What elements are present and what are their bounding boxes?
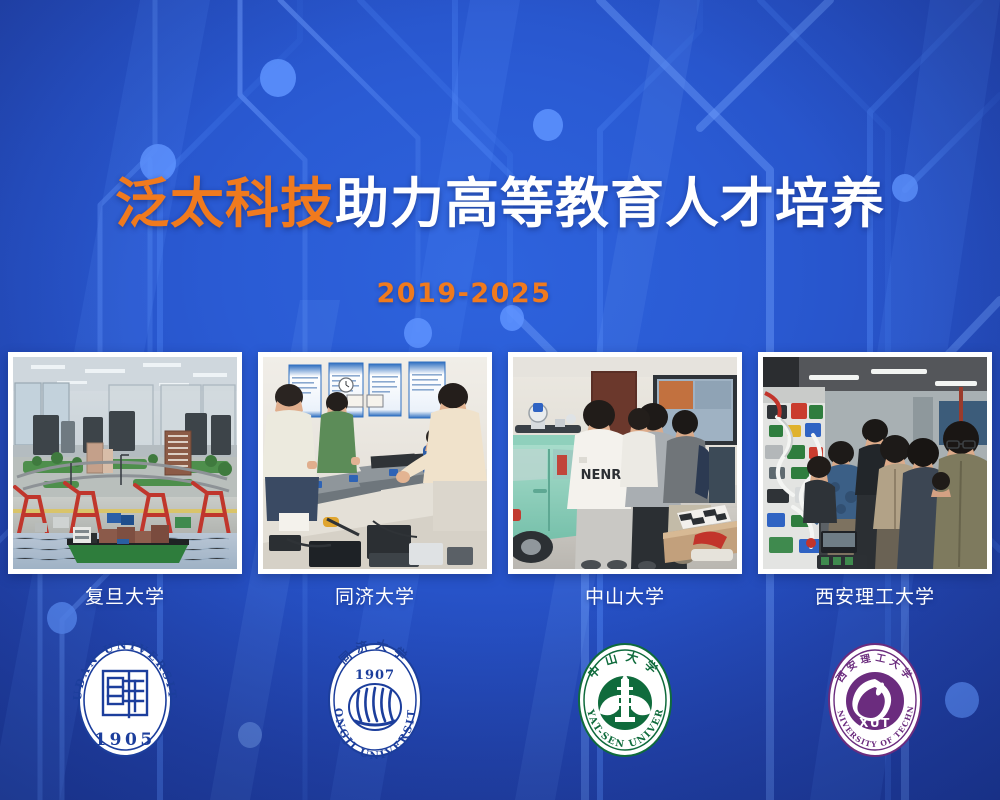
sun-yat-sen-university-logo: 中山大学 SUN YAT-SEN UNIVERSITY (567, 635, 683, 765)
svg-text:1907: 1907 (355, 668, 395, 683)
photo-card-sysu: NENR (508, 352, 742, 574)
year-range-label: 2019-2025 (0, 278, 1000, 309)
university-label-sysu: 中山大学 (508, 582, 742, 609)
university-logo-row: FUDAN UNIVERSITY 1905 (8, 630, 992, 770)
university-label-fudan: 复旦大学 (8, 582, 242, 609)
photo-sysu-autonomous-vehicle: NENR (513, 357, 737, 569)
svg-text:1949: 1949 (864, 730, 886, 738)
photo-card-fudan (8, 352, 242, 574)
logo-slot-fudan: FUDAN UNIVERSITY 1905 (8, 630, 242, 770)
photo-frame (258, 352, 492, 574)
photo-card-row: NENR (8, 352, 992, 574)
tongji-university-logo: 同济大学 TONGJI UNIVERSITY 1907 (317, 635, 433, 765)
university-label-xut: 西安理工大学 (758, 582, 992, 609)
logo-slot-xut: 西安理工大学 XI'AN UNIVERSITY OF TECHNOLOGY XU… (758, 630, 992, 770)
logo-slot-sysu: 中山大学 SUN YAT-SEN UNIVERSITY (508, 630, 742, 770)
photo-card-xut (758, 352, 992, 574)
fudan-university-logo: FUDAN UNIVERSITY 1905 (67, 635, 183, 765)
photo-card-tongji (258, 352, 492, 574)
svg-text:NENR: NENR (581, 468, 622, 483)
xian-university-of-technology-logo: 西安理工大学 XI'AN UNIVERSITY OF TECHNOLOGY XU… (817, 635, 933, 765)
photo-frame (8, 352, 242, 574)
title-accent-text: 泛太科技 (115, 172, 335, 235)
university-label-tongji: 同济大学 (258, 582, 492, 609)
svg-text:1905: 1905 (94, 730, 155, 750)
poster-canvas: 泛太科技助力高等教育人才培养 2019-2025 (0, 0, 1000, 800)
photo-tongji-lab (263, 357, 487, 569)
photo-xut-workshop (763, 357, 987, 569)
svg-text:XUT: XUT (859, 716, 891, 730)
photo-fudan-lab (13, 357, 237, 569)
page-title: 泛太科技助力高等教育人才培养 (0, 175, 1000, 232)
photo-frame (758, 352, 992, 574)
title-block: 泛太科技助力高等教育人才培养 (0, 175, 1000, 232)
logo-slot-tongji: 同济大学 TONGJI UNIVERSITY 1907 (258, 630, 492, 770)
photo-frame: NENR (508, 352, 742, 574)
title-rest-text: 助力高等教育人才培养 (335, 172, 885, 235)
university-label-row: 复旦大学 同济大学 中山大学 西安理工大学 (8, 582, 992, 609)
